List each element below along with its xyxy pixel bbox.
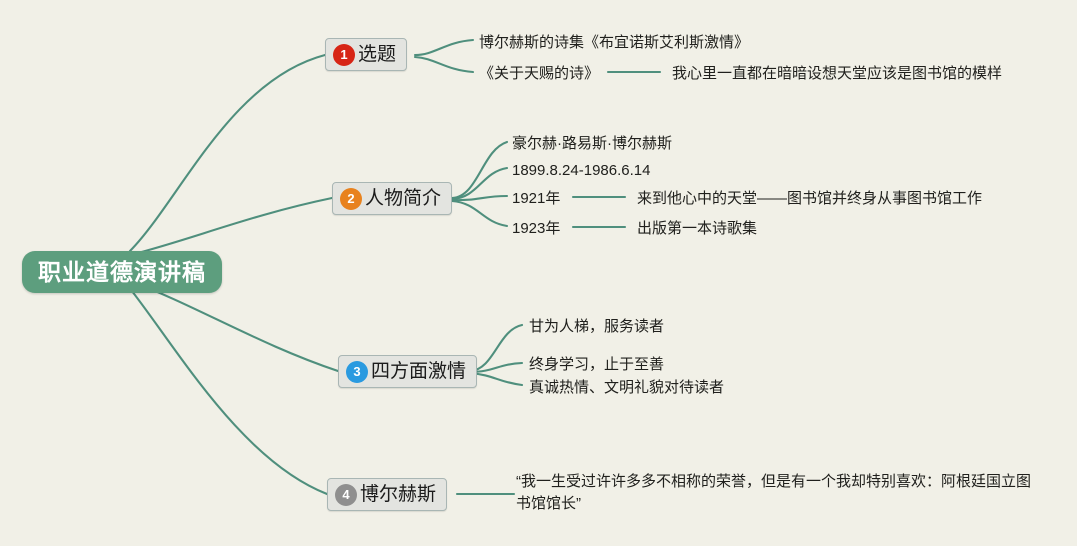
branch-badge-1: 1 bbox=[333, 44, 355, 66]
branch-badge-2: 2 bbox=[340, 188, 362, 210]
branch-label-3: 四方面激情 bbox=[371, 362, 466, 381]
edge-branch-1-child-1 bbox=[415, 40, 473, 55]
root-node-label: 职业道德演讲稿 bbox=[38, 261, 206, 284]
edge-root-to-branch-2 bbox=[130, 198, 332, 255]
edge-root-to-branch-1 bbox=[130, 55, 325, 251]
edge-root-to-branch-3 bbox=[130, 281, 338, 371]
leaf-3-2[interactable]: 终身学习，止于至善 bbox=[529, 354, 664, 376]
leaf-3-1[interactable]: 甘为人梯，服务读者 bbox=[529, 316, 664, 338]
leaf-2-1[interactable]: 豪尔赫·路易斯·博尔赫斯 bbox=[512, 133, 672, 155]
mindmap-canvas: 职业道德演讲稿 1 选题 博尔赫斯的诗集《布宜诺斯艾利斯激情》 《关于天赐的诗》… bbox=[0, 0, 1077, 546]
branch-badge-4: 4 bbox=[335, 484, 357, 506]
branch-node-2[interactable]: 2 人物简介 bbox=[332, 182, 452, 215]
branch-node-1[interactable]: 1 选题 bbox=[325, 38, 407, 71]
leaf-1-2[interactable]: 《关于天赐的诗》 bbox=[479, 63, 599, 85]
branch-label-1: 选题 bbox=[358, 45, 396, 64]
edge-branch-2-child-2 bbox=[452, 168, 507, 199]
leaf-2-2[interactable]: 1899.8.24-1986.6.14 bbox=[512, 160, 650, 182]
leaf-1-2-detail[interactable]: 我心里一直都在暗暗设想天堂应该是图书馆的模样 bbox=[672, 63, 1002, 85]
leaf-1-1[interactable]: 博尔赫斯的诗集《布宜诺斯艾利斯激情》 bbox=[479, 32, 749, 54]
leaf-4-1[interactable]: “我一生受过许许多多不相称的荣誉，但是有一个我却特别喜欢：阿根廷国立图书馆馆长” bbox=[516, 471, 1041, 515]
branch-node-4[interactable]: 4 博尔赫斯 bbox=[327, 478, 447, 511]
edge-branch-2-child-3 bbox=[452, 196, 507, 200]
edge-root-to-branch-4 bbox=[128, 286, 327, 494]
branch-label-4: 博尔赫斯 bbox=[360, 485, 436, 504]
branch-badge-3: 3 bbox=[346, 361, 368, 383]
edge-branch-3-child-1 bbox=[470, 325, 522, 371]
leaf-2-4-detail[interactable]: 出版第一本诗歌集 bbox=[637, 218, 757, 240]
leaf-3-3[interactable]: 真诚热情、文明礼貌对待读者 bbox=[529, 377, 724, 399]
edge-branch-2-child-1 bbox=[452, 142, 507, 198]
leaf-2-3[interactable]: 1921年 bbox=[512, 188, 560, 210]
leaf-2-4[interactable]: 1923年 bbox=[512, 218, 560, 240]
edge-branch-1-child-2 bbox=[415, 57, 473, 72]
edge-branch-2-child-4 bbox=[452, 201, 507, 226]
edge-branch-3-child-3 bbox=[470, 373, 522, 385]
root-node[interactable]: 职业道德演讲稿 bbox=[22, 251, 222, 293]
leaf-2-3-detail[interactable]: 来到他心中的天堂——图书馆并终身从事图书馆工作 bbox=[637, 188, 982, 210]
edge-branch-3-child-2 bbox=[470, 363, 522, 372]
branch-node-3[interactable]: 3 四方面激情 bbox=[338, 355, 477, 388]
branch-label-2: 人物简介 bbox=[365, 189, 441, 208]
